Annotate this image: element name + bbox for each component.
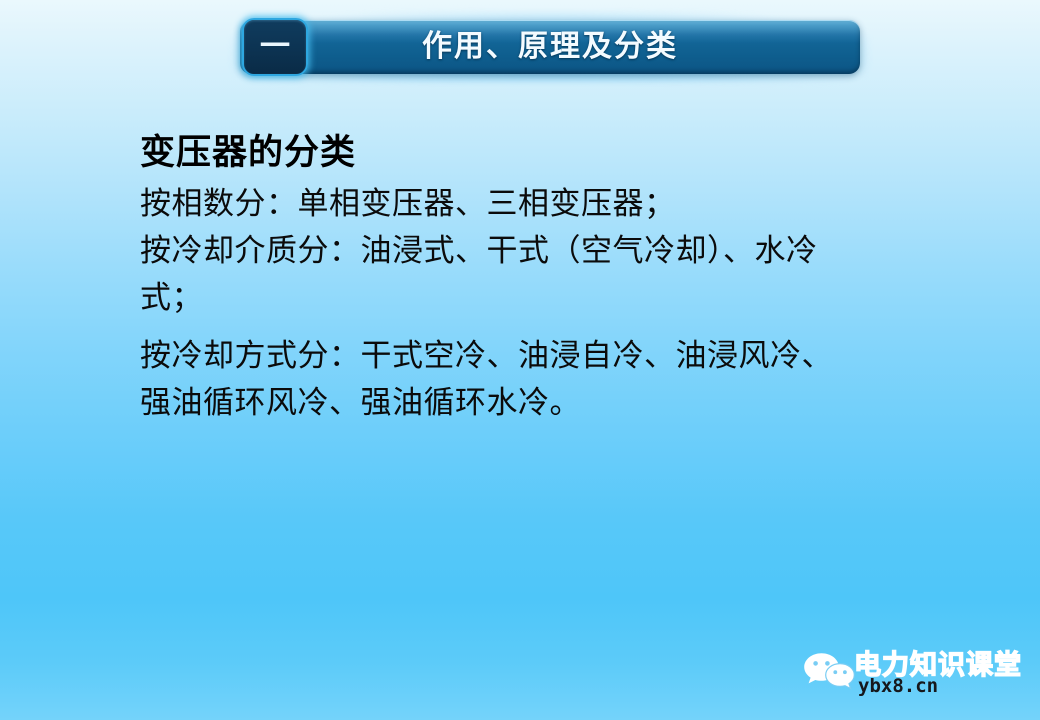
paragraph-by-cooling-method: 按冷却方式分：干式空冷、油浸自冷、油浸风冷、 强油循环风冷、强油循环水冷。 — [140, 332, 1000, 426]
page-title: 变压器的分类 — [140, 130, 1000, 176]
paragraph-by-phase-count: 按相数分：单相变压器、三相变压器； — [140, 180, 1000, 227]
body-line: 按冷却方式分：干式空冷、油浸自冷、油浸风冷、 — [140, 332, 1000, 379]
body-line: 式； — [140, 274, 1000, 321]
watermark: 电力知识课堂 ybx8.cn — [802, 648, 1034, 708]
content-area: 变压器的分类 按相数分：单相变压器、三相变压器； 按冷却介质分：油浸式、干式（空… — [140, 130, 1000, 426]
header-banner: 作用、原理及分类 一 — [232, 12, 868, 82]
banner-bar: 作用、原理及分类 — [240, 20, 860, 74]
banner-title: 作用、原理及分类 — [240, 20, 860, 74]
slide-canvas: 作用、原理及分类 一 变压器的分类 按相数分：单相变压器、三相变压器； 按冷却介… — [0, 0, 1040, 720]
section-number-label: 一 — [244, 20, 306, 74]
paragraph-by-cooling-medium: 按冷却介质分：油浸式、干式（空气冷却）、水冷 式； — [140, 227, 1000, 321]
wechat-icon — [802, 650, 858, 692]
body-line: 强油循环风冷、强油循环水冷。 — [140, 379, 1000, 426]
watermark-url: ybx8.cn — [858, 675, 938, 697]
body-line: 按相数分：单相变压器、三相变压器； — [140, 180, 1000, 227]
section-number-badge: 一 — [242, 18, 308, 76]
body-line: 按冷却介质分：油浸式、干式（空气冷却）、水冷 — [140, 227, 1000, 274]
